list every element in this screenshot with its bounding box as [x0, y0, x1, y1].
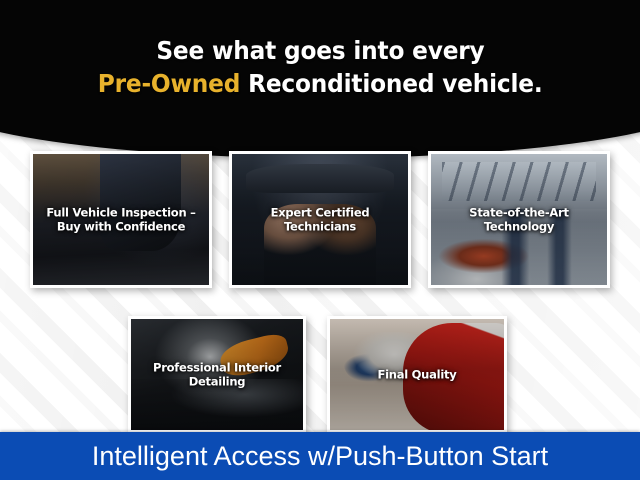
card-label-state-of-the-art-technology: State-of-the-Art Technology [431, 205, 607, 234]
card-expert-certified-technicians[interactable]: Expert Certified Technicians [229, 151, 411, 288]
card-final-quality[interactable]: Final Quality [327, 316, 507, 433]
promo-graphic: See what goes into every Pre-Owned Recon… [0, 0, 640, 480]
card-label-line-2: Buy with Confidence [41, 220, 201, 235]
banner-text: Intelligent Access w/Push-Button Start [92, 441, 548, 472]
card-label-professional-interior-detailing: Professional Interior Detailing [131, 360, 303, 389]
bottom-banner: Intelligent Access w/Push-Button Start [0, 432, 640, 480]
card-label-line-1: Expert Certified Technicians [240, 205, 400, 234]
card-label-full-vehicle-inspection: Full Vehicle Inspection – Buy with Confi… [33, 205, 209, 234]
card-label-final-quality: Final Quality [330, 367, 504, 382]
card-label-expert-certified-technicians: Expert Certified Technicians [232, 205, 408, 234]
card-label-line-1: State-of-the-Art Technology [439, 205, 599, 234]
card-state-of-the-art-technology[interactable]: State-of-the-Art Technology [428, 151, 610, 288]
card-label-line-2: Detailing [139, 375, 295, 390]
card-label-line-1: Final Quality [338, 367, 496, 382]
feature-card-grid: Full Vehicle Inspection – Buy with Confi… [0, 0, 640, 480]
card-full-vehicle-inspection[interactable]: Full Vehicle Inspection – Buy with Confi… [30, 151, 212, 288]
card-label-line-1: Full Vehicle Inspection – [41, 205, 201, 220]
card-label-line-1: Professional Interior [139, 360, 295, 375]
card-professional-interior-detailing[interactable]: Professional Interior Detailing [128, 316, 306, 433]
